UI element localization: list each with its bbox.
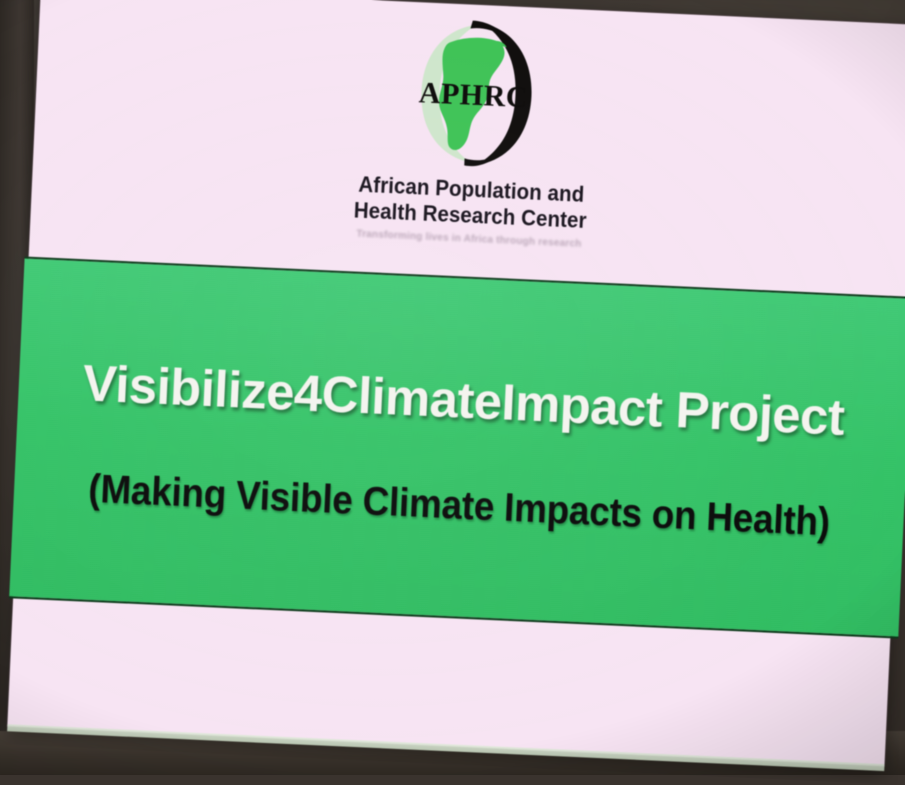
slide-subtitle: (Making Visible Climate Impacts on Healt… [87,467,830,546]
title-banner: Visibilize4ClimateImpact Project (Making… [9,257,905,639]
svg-text:APHRC: APHRC [418,76,529,114]
logo-block: APHRC African Population and Health Rese… [30,0,905,264]
projection-screen: APHRC African Population and Health Rese… [0,0,905,785]
slide-title: Visibilize4ClimateImpact Project [82,353,846,447]
presentation-slide: APHRC African Population and Health Rese… [7,0,905,766]
aphrc-globe-africa-logo-icon: APHRC [406,16,545,172]
organization-name: African Population and Health Research C… [353,171,588,233]
